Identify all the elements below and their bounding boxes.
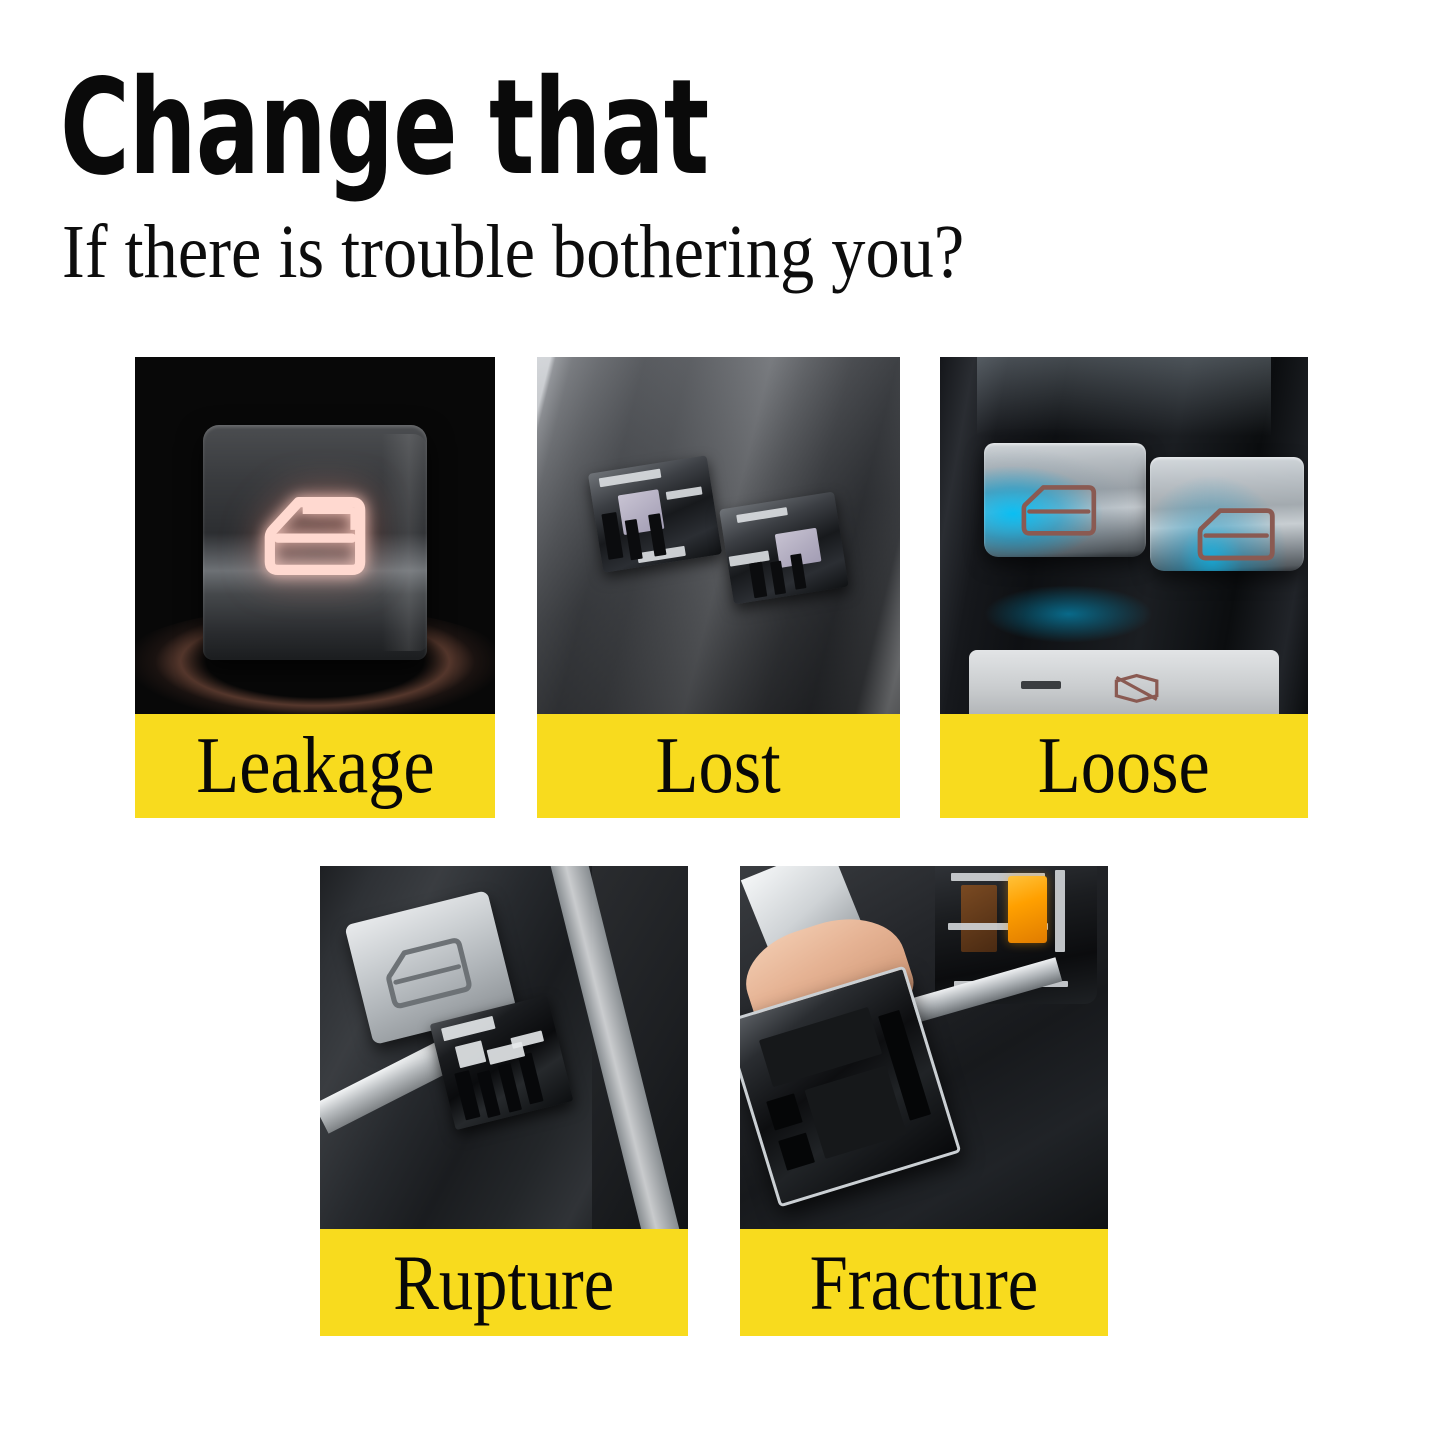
dash-marker-icon xyxy=(1021,681,1061,689)
photo-rupture xyxy=(320,866,688,1229)
caption-label: Fracture xyxy=(810,1244,1039,1322)
problem-tile-loose[interactable]: Loose xyxy=(940,357,1308,818)
photo-leakage xyxy=(135,357,495,714)
trim-highlight xyxy=(977,357,1271,436)
caption-label: Loose xyxy=(1038,726,1210,806)
caption-band-lost: Lost xyxy=(537,714,900,818)
caption-band-loose: Loose xyxy=(940,714,1308,818)
window-switch-button xyxy=(203,425,426,661)
problem-tile-fracture[interactable]: Fracture xyxy=(740,866,1108,1336)
car-window-icon xyxy=(1196,505,1276,566)
problem-tile-lost[interactable]: Lost xyxy=(537,357,900,818)
photo-fracture xyxy=(740,866,1108,1229)
infographic-page: Change that If there is trouble botherin… xyxy=(0,0,1445,1445)
problem-tile-leakage[interactable]: Leakage xyxy=(135,357,495,818)
caption-label: Lost xyxy=(656,726,781,806)
window-switch-button-right xyxy=(1150,457,1305,571)
bare-switch-carrier-right xyxy=(719,491,849,604)
bare-switch-carrier-left xyxy=(588,455,722,572)
copper-contact xyxy=(961,885,997,952)
backlight-reflection xyxy=(984,585,1153,642)
car-window-icon xyxy=(264,496,367,582)
window-switch-button-left xyxy=(984,443,1146,557)
page-title: Change that xyxy=(60,62,708,194)
car-window-icon xyxy=(378,932,477,1016)
car-window-icon xyxy=(1020,482,1098,541)
photo-loose xyxy=(940,357,1308,714)
photo-lost xyxy=(537,357,900,714)
caption-band-leakage: Leakage xyxy=(135,714,495,818)
mirror-fold-icon xyxy=(1109,670,1164,707)
caption-band-rupture: Rupture xyxy=(320,1229,688,1336)
problem-tile-rupture[interactable]: Rupture xyxy=(320,866,688,1336)
caption-label: Leakage xyxy=(196,726,434,806)
caption-label: Rupture xyxy=(393,1244,614,1322)
page-subtitle: If there is trouble bothering you? xyxy=(62,214,964,290)
orange-connector-clip xyxy=(1008,876,1047,943)
caption-band-fracture: Fracture xyxy=(740,1229,1108,1336)
